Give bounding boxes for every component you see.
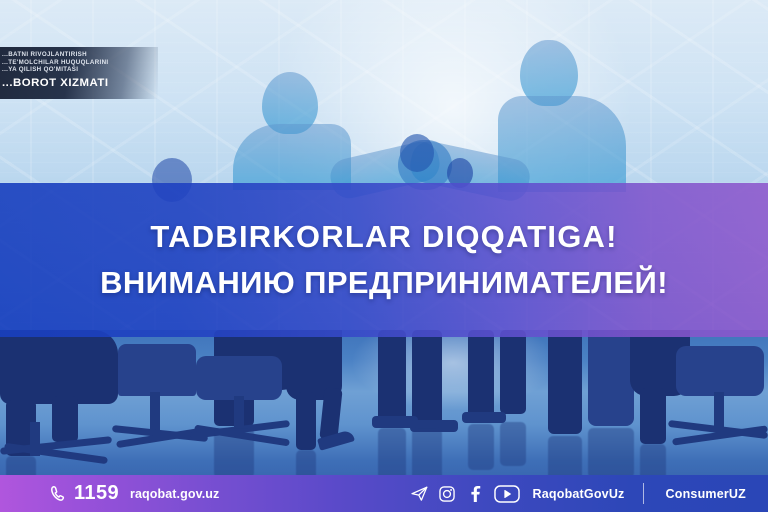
silhouette-legs-pair-b <box>412 330 442 426</box>
telegram-icon[interactable] <box>410 484 429 503</box>
chair-column-2 <box>150 392 160 434</box>
floor-reflection-d <box>468 424 494 470</box>
chair-seat-3 <box>196 356 282 400</box>
facebook-icon[interactable] <box>466 484 485 503</box>
floor-reflection-b <box>378 428 406 480</box>
headline-uzbek: TADBIRKORLAR DIQQATIGA! <box>150 219 617 255</box>
silhouette-legs-pair-a <box>378 330 406 422</box>
footer-contact-group: 1159 raqobat.gov.uz <box>48 482 219 505</box>
silhouette-seated-left-leg-2 <box>52 396 78 442</box>
hotline-number[interactable]: 1159 <box>74 482 119 505</box>
website-url[interactable]: raqobat.gov.uz <box>130 487 219 501</box>
logo-line-1: ...BATNI RIVOJLANTIRISH <box>2 51 158 59</box>
silhouette-shoe-c <box>462 412 506 423</box>
social-handle-secondary[interactable]: ConsumerUZ <box>666 487 746 501</box>
committee-logo-plate: ...BATNI RIVOJLANTIRISH ...TE'MOLCHILAR … <box>0 47 158 99</box>
poster-root: ...BATNI RIVOJLANTIRISH ...TE'MOLCHILAR … <box>0 0 768 512</box>
chair-seat-2 <box>118 344 196 396</box>
silhouette-right-leg-b <box>588 330 634 426</box>
logo-line-4: ...BOROT XIZMATI <box>2 76 158 91</box>
chair-seat-4 <box>676 346 764 396</box>
silhouette-seated-head-center <box>400 134 434 172</box>
floor-reflection-g <box>588 428 634 478</box>
silhouette-woman-leg-a <box>296 392 316 450</box>
footer-divider <box>643 483 644 504</box>
silhouette-seated-left-torso <box>0 330 118 404</box>
chair-column-left <box>30 422 40 456</box>
social-handle-primary[interactable]: RaqobatGovUz <box>533 487 625 501</box>
floor-reflection-e <box>500 422 526 466</box>
silhouette-right-leg-a <box>548 330 582 434</box>
headline-russian: ВНИМАНИЮ ПРЕДПРИНИМАТЕЛЕЙ! <box>100 265 668 301</box>
silhouette-right-leg-c <box>640 388 666 444</box>
instagram-icon[interactable] <box>438 484 457 503</box>
youtube-icon[interactable] <box>494 484 520 503</box>
logo-line-3: ...YA QILISH QO'MITASI <box>2 66 158 74</box>
phone-handset-icon <box>48 484 67 503</box>
contact-footer-bar: 1159 raqobat.gov.uz <box>0 475 768 512</box>
logo-line-2: ...TE'MOLCHILAR HUQUQLARINI <box>2 59 158 67</box>
headline-banner: TADBIRKORLAR DIQQATIGA! ВНИМАНИЮ ПРЕДПРИ… <box>0 183 768 337</box>
silhouette-legs-pair-c <box>468 330 494 418</box>
floor-reflection-j <box>214 428 254 478</box>
footer-social-group: RaqobatGovUz ConsumerUZ <box>410 483 746 504</box>
floor-reflection-c <box>412 428 442 482</box>
silhouette-legs-pair-d <box>500 330 526 414</box>
